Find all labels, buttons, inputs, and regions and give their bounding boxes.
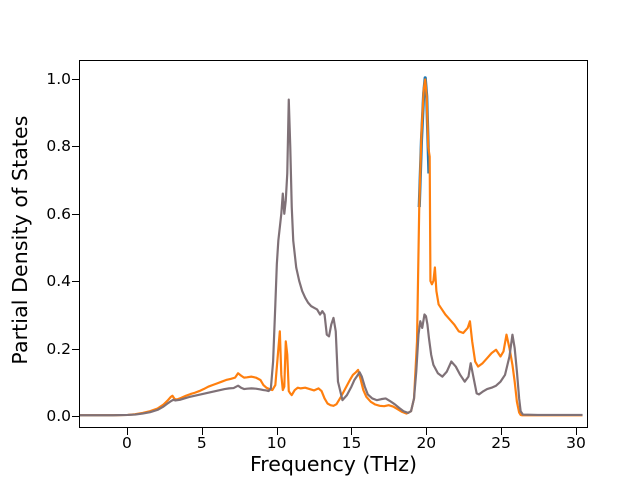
- y-tick-label: 0.0: [0, 407, 71, 425]
- y-tick-mark: [72, 146, 79, 147]
- y-tick-label: 0.8: [0, 137, 71, 155]
- x-tick-label: 25: [491, 434, 511, 452]
- x-axis-label: Frequency (THz): [79, 452, 588, 476]
- y-tick-label: 0.2: [0, 340, 71, 358]
- x-tick-label: 15: [342, 434, 362, 452]
- y-tick-mark: [72, 281, 79, 282]
- y-tick-mark: [72, 79, 79, 80]
- pdos-line-chart: [80, 61, 587, 427]
- x-tick-label: 0: [122, 434, 132, 452]
- y-tick-label: 0.4: [0, 272, 71, 290]
- y-tick-label: 0.6: [0, 205, 71, 223]
- plot-axes-frame: [79, 60, 588, 428]
- y-tick-mark: [72, 214, 79, 215]
- x-tick-label: 10: [267, 434, 287, 452]
- y-tick-label: 1.0: [0, 70, 71, 88]
- y-tick-mark: [72, 349, 79, 350]
- figure-canvas: Partial Density of States 0.00.20.40.60.…: [0, 0, 640, 480]
- y-tick-mark: [72, 416, 79, 417]
- x-tick-label: 20: [416, 434, 436, 452]
- x-tick-label: 5: [197, 434, 207, 452]
- chart-line-series-3-gray: [80, 100, 583, 416]
- x-tick-label: 30: [566, 434, 586, 452]
